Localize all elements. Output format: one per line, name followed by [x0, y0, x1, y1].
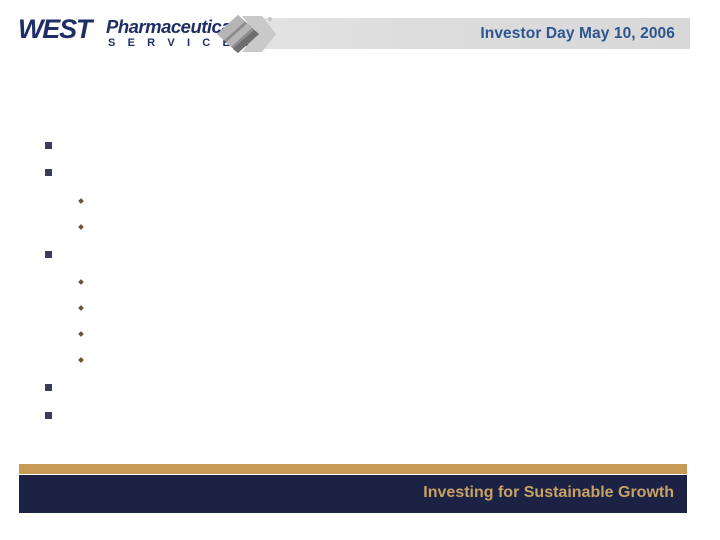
bullet-square-icon: [45, 169, 52, 176]
bullet-square-icon: [45, 142, 52, 149]
bullet-diamond-icon: [78, 198, 84, 204]
bullet-diamond-icon: [78, 331, 84, 337]
footer-gold-band: [19, 464, 687, 474]
bullet-diamond-icon: [78, 279, 84, 285]
bullet-diamond-icon: [78, 357, 84, 363]
presentation-slide: Investor Day May 10, 2006 WEST Pharmaceu…: [0, 0, 720, 540]
slide-body: [0, 0, 720, 460]
bullet-square-icon: [45, 384, 52, 391]
bullet-diamond-icon: [78, 224, 84, 230]
bullet-diamond-icon: [78, 305, 84, 311]
bullet-square-icon: [45, 412, 52, 419]
footer-title: Investing for Sustainable Growth: [19, 481, 674, 505]
bullet-square-icon: [45, 251, 52, 258]
